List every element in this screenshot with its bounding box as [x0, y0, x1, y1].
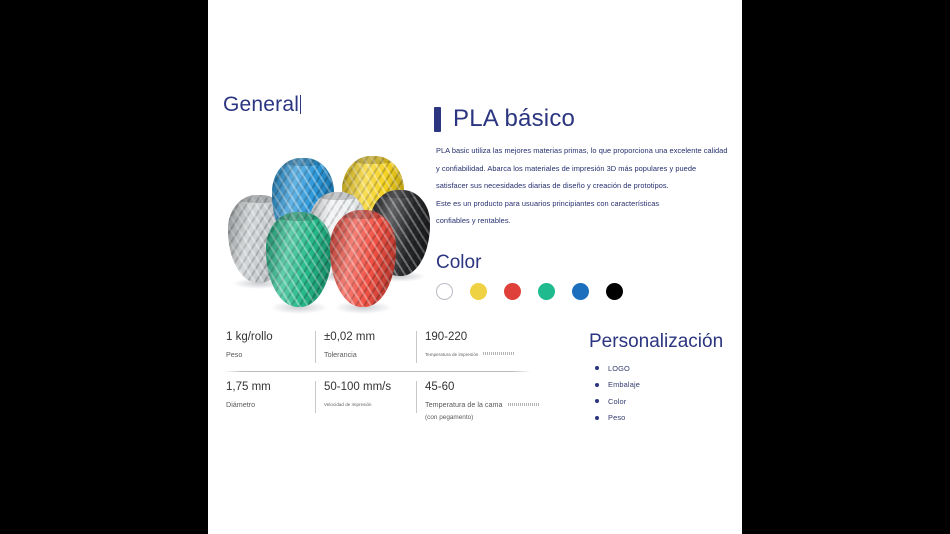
color-swatch-green[interactable]	[538, 283, 555, 300]
spec-cell: ±0,02 mmTolerancia	[315, 330, 416, 371]
spec-label: Peso	[226, 350, 315, 360]
color-swatch-list	[436, 283, 623, 300]
document-page: General PLA básico PLA basic utiliza las…	[208, 0, 742, 534]
vase-rim	[317, 192, 359, 200]
personalization-item: Embalaje	[595, 377, 640, 394]
spec-value: 1,75 mm	[226, 380, 315, 395]
spec-label-text: Temperatura de la cama	[425, 400, 503, 409]
spec-label-text: Temperatura de impresión	[425, 352, 478, 357]
color-swatch-white[interactable]	[436, 283, 453, 300]
vase-red	[330, 210, 396, 307]
personalization-item-label: LOGO	[608, 364, 630, 373]
spec-divider	[224, 371, 531, 372]
color-swatch-black[interactable]	[606, 283, 623, 300]
description-line: y confiabilidad. Abarca los materiales d…	[436, 160, 732, 178]
spec-label: Temperatura de la cama	[425, 400, 536, 410]
spec-label-text: Diámetro	[226, 400, 255, 409]
spec-label: Tolerancia	[324, 350, 416, 360]
spec-label: Diámetro	[226, 400, 315, 410]
spec-cell: 1,75 mmDiámetro	[218, 380, 315, 434]
color-section-heading: Color	[436, 252, 481, 274]
personalization-item-label: Embalaje	[608, 380, 640, 389]
vase-rim	[275, 212, 323, 221]
vase-rim	[378, 190, 421, 198]
personalization-item-label: Color	[608, 397, 626, 406]
personalization-heading: Personalización	[589, 331, 723, 353]
personalization-item: Color	[595, 393, 640, 410]
product-title-row: PLA básico	[434, 105, 575, 133]
personalization-item-label: Peso	[608, 413, 625, 422]
spec-label-text: Velocidad de impresión	[324, 402, 372, 407]
spec-value: ±0,02 mm	[324, 330, 416, 345]
bullet-dot-icon	[595, 366, 599, 370]
spec-value: 45-60	[425, 380, 536, 395]
vase-body	[266, 212, 332, 307]
personalization-list: LOGOEmbalajeColorPeso	[595, 360, 640, 426]
spec-value: 1 kg/rollo	[226, 330, 315, 345]
description-line: Este es un producto para usuarios princi…	[436, 195, 732, 213]
general-label: General	[223, 93, 299, 116]
product-description: PLA basic utiliza las mejores materias p…	[436, 142, 732, 230]
vase-shading	[330, 210, 396, 307]
vase-shading	[266, 212, 332, 307]
vase-rim	[339, 210, 387, 219]
spec-cell: 45-60Temperatura de la cama(con pegament…	[416, 380, 536, 434]
spec-cell: 190-220Temperatura de impresión	[416, 330, 536, 371]
color-swatch-red[interactable]	[504, 283, 521, 300]
spec-value: 50-100 mm/s	[324, 380, 416, 395]
bullet-dot-icon	[595, 416, 599, 420]
color-swatch-yellow[interactable]	[470, 283, 487, 300]
spec-row: 1 kg/rolloPeso±0,02 mmTolerancia190-220T…	[218, 330, 536, 371]
spec-value: 190-220	[425, 330, 536, 345]
color-swatch-blue[interactable]	[572, 283, 589, 300]
description-line: satisfacer sus necesidades diarias de di…	[436, 177, 732, 195]
vase-green	[266, 212, 332, 307]
spec-label: Velocidad de impresión	[324, 400, 416, 410]
spec-label: Temperatura de impresión	[425, 350, 536, 360]
spec-sublabel: (con pegamento)	[425, 413, 536, 423]
spec-cell: 1 kg/rolloPeso	[218, 330, 315, 371]
specification-grid: 1 kg/rolloPeso±0,02 mmTolerancia190-220T…	[218, 330, 536, 434]
spec-label-text: Tolerancia	[324, 350, 357, 359]
personalization-item: LOGO	[595, 360, 640, 377]
spec-note-mark	[508, 403, 540, 406]
description-line: PLA basic utiliza las mejores materias p…	[436, 142, 732, 160]
bullet-dot-icon	[595, 399, 599, 403]
page-title-general: General	[223, 93, 301, 117]
title-accent-bar	[434, 107, 441, 132]
vase-body	[330, 210, 396, 307]
text-cursor-caret	[300, 95, 301, 114]
spec-label-text: Peso	[226, 350, 242, 359]
bullet-dot-icon	[595, 383, 599, 387]
description-line: confiables y rentables.	[436, 212, 732, 230]
personalization-item: Peso	[595, 410, 640, 427]
pla-vases-photo	[220, 150, 430, 315]
spec-cell: 50-100 mm/sVelocidad de impresión	[315, 380, 416, 434]
spec-row: 1,75 mmDiámetro50-100 mm/sVelocidad de i…	[218, 371, 536, 434]
page-title: PLA básico	[453, 105, 575, 133]
screenshot-canvas: General PLA básico PLA basic utiliza las…	[0, 0, 950, 534]
spec-note-mark	[483, 352, 515, 355]
